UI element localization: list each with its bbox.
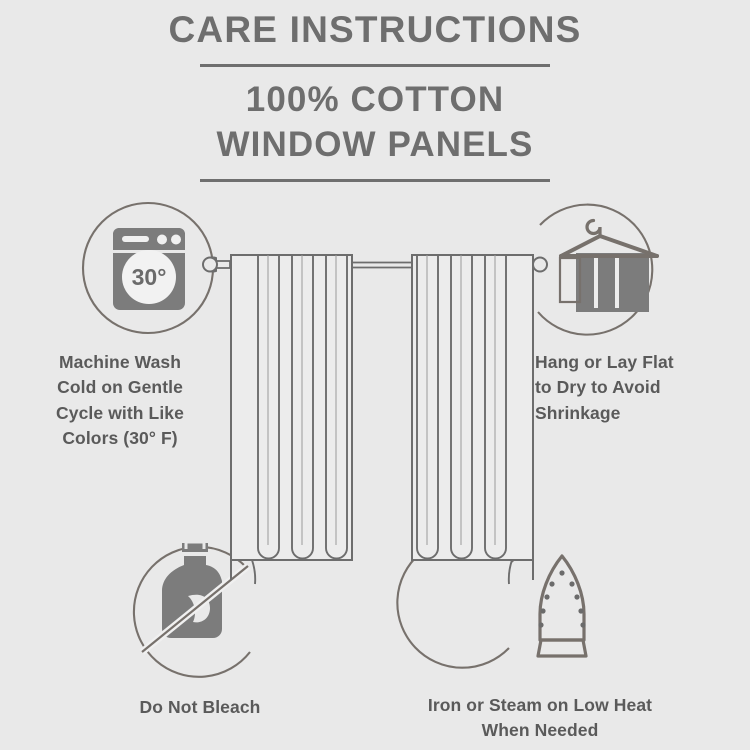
wash-temperature-label: 30° — [132, 264, 167, 290]
care-instructions-infographic: CARE INSTRUCTIONS 100% COTTON WINDOW PAN… — [0, 0, 750, 750]
caption-iron-steam: Iron or Steam on Low Heat When Needed — [415, 693, 665, 744]
curtain-rod-finial-left — [203, 258, 230, 272]
caption-do-not-bleach: Do Not Bleach — [100, 695, 300, 720]
iron-icon — [538, 556, 586, 656]
curtain-panel-right — [412, 255, 533, 584]
washing-machine-icon: 30° — [113, 228, 185, 310]
curtain-panel-left — [231, 255, 352, 584]
curtain-window-panels-illustration — [203, 255, 547, 584]
caption-hang-dry: Hang or Lay Flat to Dry to Avoid Shrinka… — [535, 350, 735, 426]
caption-machine-wash: Machine Wash Cold on Gentle Cycle with L… — [20, 350, 220, 452]
